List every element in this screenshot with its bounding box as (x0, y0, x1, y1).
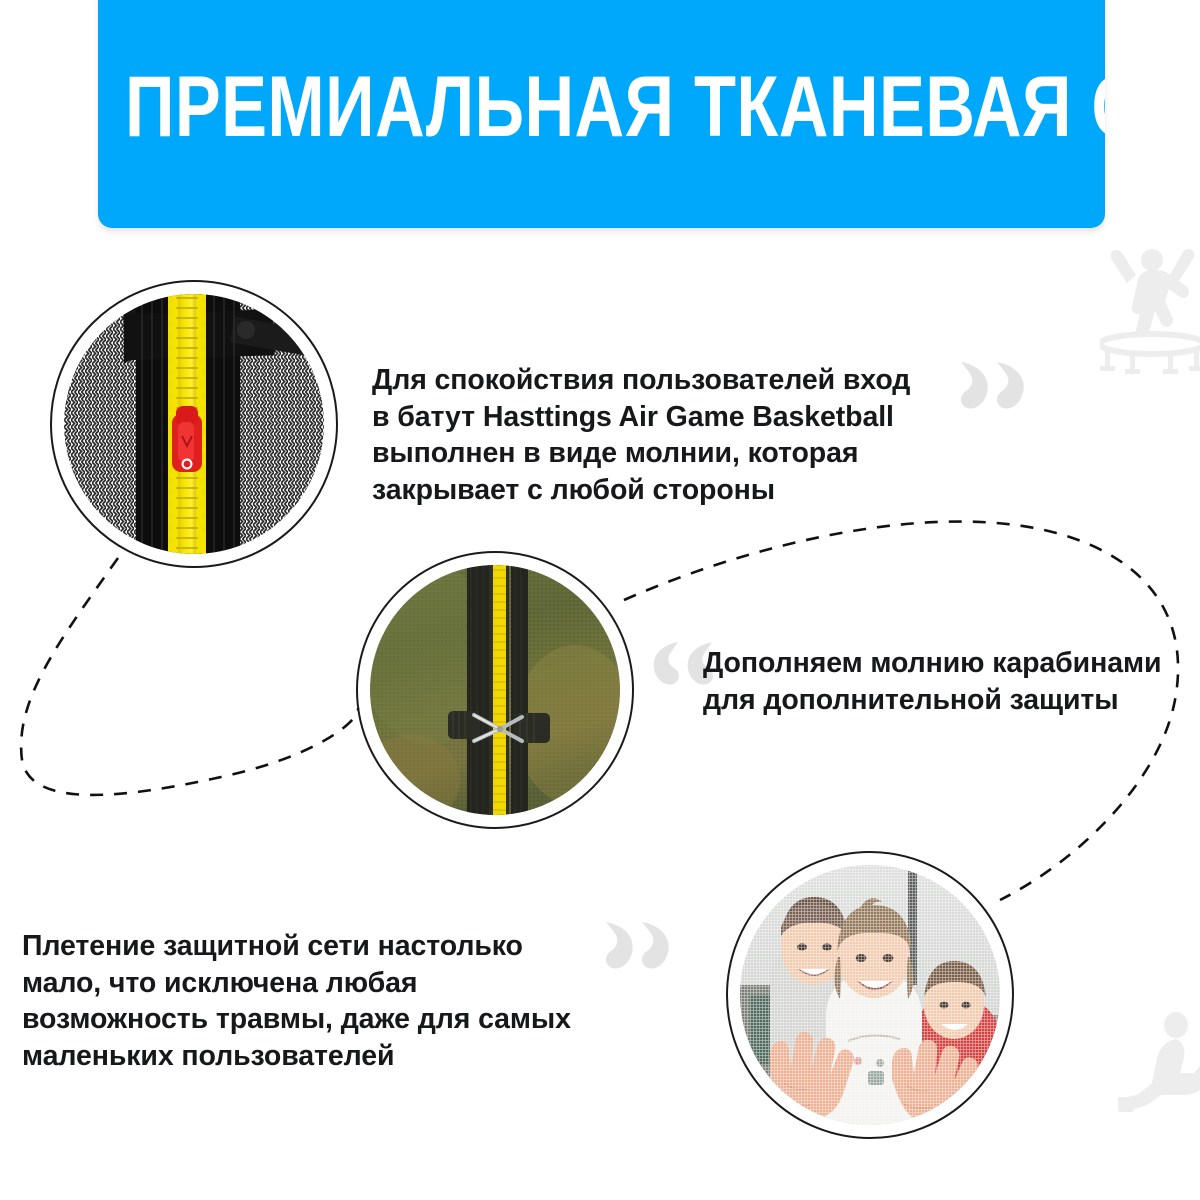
callout-text-zipper-entry: Для спокойствия пользователей вход в бат… (372, 362, 1012, 508)
crouching-jumper-watermark (1118, 1003, 1200, 1143)
circle-outline (356, 551, 634, 829)
circle-outline (50, 280, 338, 568)
infographic-canvas: ПРЕМИАЛЬНАЯ ТКАНЕВАЯ СЕТКА (0, 0, 1200, 1200)
callout-text-fine-weave: Плетение защитной сети настолько мало, ч… (22, 928, 662, 1074)
page-title: ПРЕМИАЛЬНАЯ ТКАНЕВАЯ СЕТКА (125, 64, 893, 150)
callout-text-carabiner: Дополняем молнию карабинами для дополнит… (703, 645, 1200, 718)
jumper-on-trampoline-watermark (1100, 238, 1200, 388)
connector-zipper-to-carabiner (21, 558, 358, 795)
circle-outline (726, 851, 1014, 1139)
children-behind-net-photo (726, 851, 1014, 1139)
carabiner-closeup-photo (356, 551, 634, 829)
header-banner: ПРЕМИАЛЬНАЯ ТКАНЕВАЯ СЕТКА (98, 0, 1105, 228)
zipper-closeup-photo (50, 280, 338, 568)
